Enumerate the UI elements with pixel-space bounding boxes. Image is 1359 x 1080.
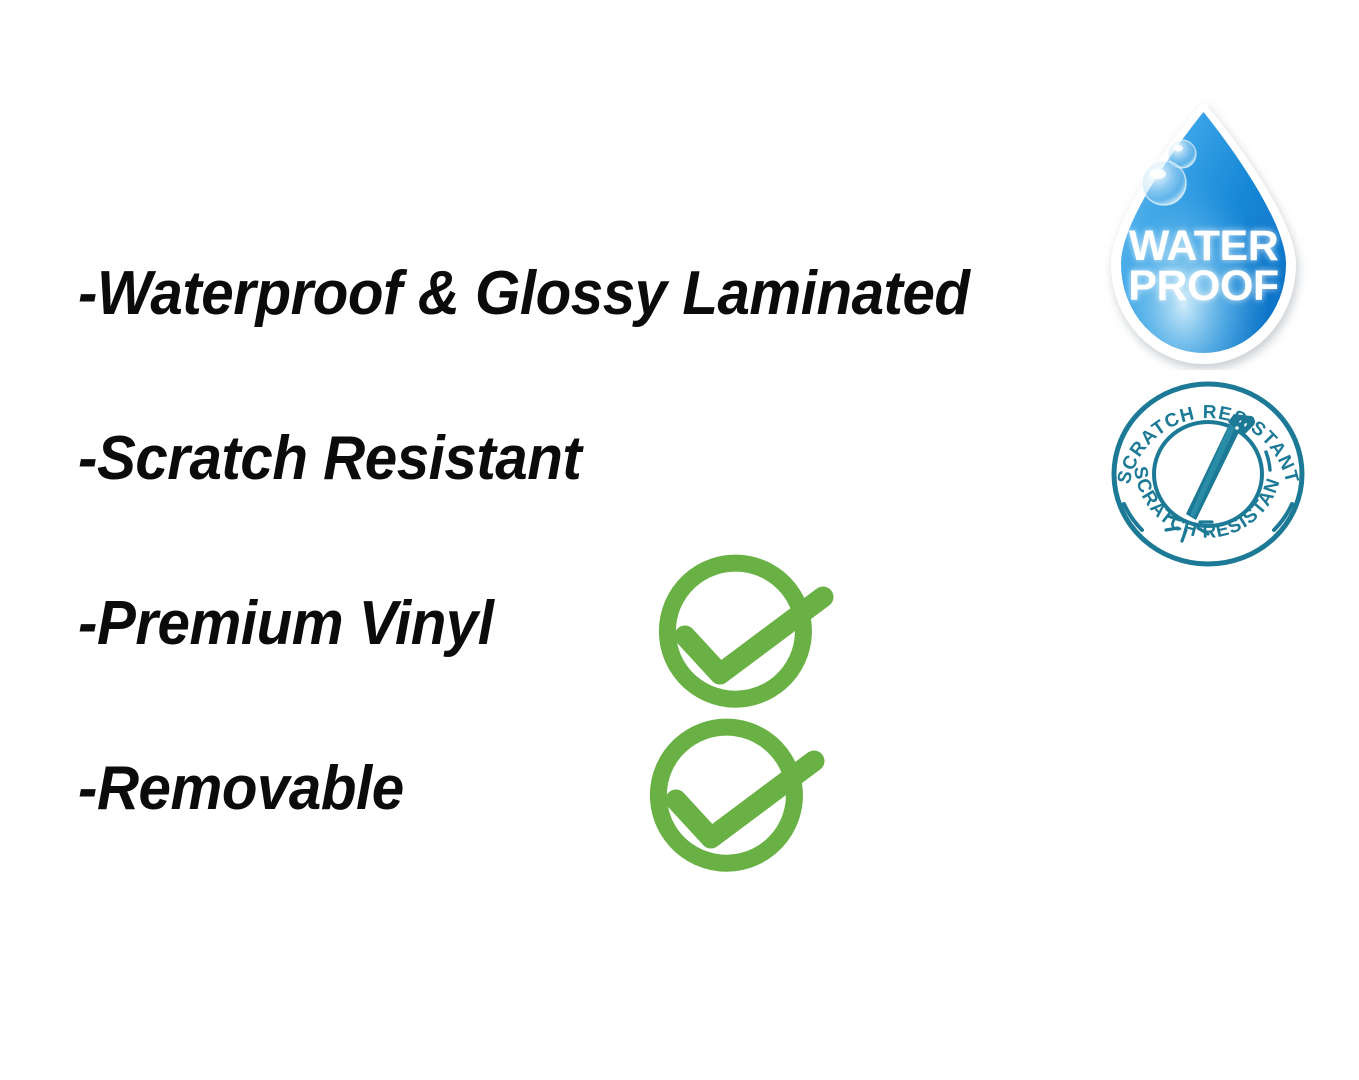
check-circle-icon [645, 552, 835, 717]
list-item: -Removable [78, 753, 1098, 918]
scratch-resistant-badge: SCRATCH RESISTANT SCRATCH RESISTANT [1108, 378, 1308, 570]
feature-label-premium-vinyl: -Premium Vinyl [78, 588, 494, 660]
feature-highlights-panel: -Waterproof & Glossy Laminated -Scratch … [0, 0, 1359, 1080]
check-circle-icon [636, 716, 826, 881]
feature-label-waterproof: -Waterproof & Glossy Laminated [78, 258, 970, 330]
list-item: -Waterproof & Glossy Laminated [78, 258, 1098, 423]
feature-list: -Waterproof & Glossy Laminated -Scratch … [78, 258, 1098, 918]
water-drop-icon [1111, 101, 1296, 364]
feature-label-removable: -Removable [78, 753, 404, 825]
list-item: -Premium Vinyl [78, 588, 1098, 753]
bubble-large-icon [1142, 161, 1186, 205]
feature-label-scratch-resistant: -Scratch Resistant [78, 423, 581, 495]
waterproof-badge: WATER PROOF [1096, 98, 1311, 370]
list-item: -Scratch Resistant [78, 423, 1098, 588]
